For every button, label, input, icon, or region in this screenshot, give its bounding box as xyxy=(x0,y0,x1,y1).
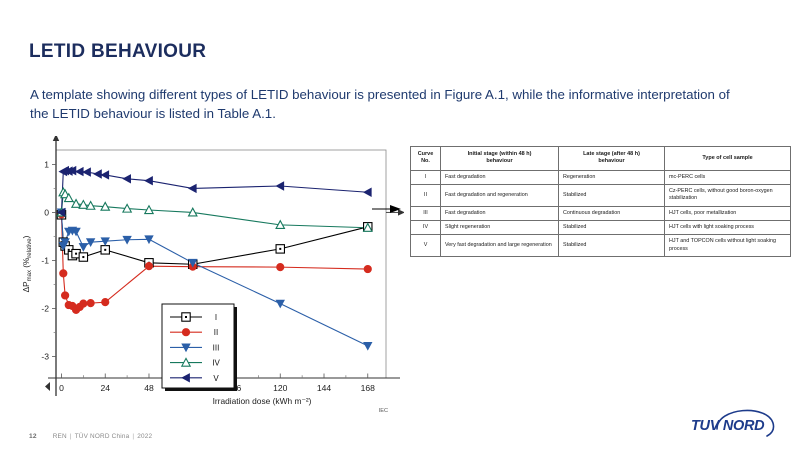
flow-arrow-icon xyxy=(372,203,402,215)
data-marker xyxy=(94,170,102,178)
x-tick-label: 0 xyxy=(59,383,64,393)
cell-type-cell: HJT cells with light soaking process xyxy=(665,221,791,235)
data-marker-dot xyxy=(185,316,187,318)
column-header-initial-stage: Initial stage (within 48 h) behaviour xyxy=(441,147,559,171)
initial-stage-cell: Fast degradation xyxy=(441,170,559,184)
legend-label-V: V xyxy=(213,374,219,383)
legend-label-II: II xyxy=(214,328,218,337)
table-row: IIFast degradation and regenerationStabi… xyxy=(411,185,791,207)
cell-type-cell: HJT cells, poor metallization xyxy=(665,206,791,220)
data-marker xyxy=(59,270,67,278)
page-title: LETID BEHAVIOUR xyxy=(29,41,206,63)
legend-label-III: III xyxy=(213,343,220,352)
curve-no-cell: II xyxy=(411,185,441,207)
initial-stage-cell: Fast degradation and regeneration xyxy=(441,185,559,207)
data-marker-dot xyxy=(75,253,77,255)
curve-no-cell: I xyxy=(411,170,441,184)
late-stage-cell: Stabilized xyxy=(559,235,665,257)
data-marker xyxy=(101,171,109,179)
data-marker xyxy=(80,300,88,308)
chart-svg: 10-1-2-3024487296120144168Irradiation do… xyxy=(14,136,404,421)
y-tick-label: -2 xyxy=(41,303,49,313)
footer-separator-1: | xyxy=(70,433,72,440)
data-marker-dot xyxy=(279,248,281,250)
footer: 12 REN | TÜV NORD China | 2022 xyxy=(29,433,152,440)
table-body: IFast degradationRegenerationmc-PERC cel… xyxy=(411,170,791,256)
table-row: IVSlight regenerationStabilizedHJT cells… xyxy=(411,221,791,235)
data-marker-dot xyxy=(104,249,106,251)
logo-wordmark: TUV NORD xyxy=(691,418,765,434)
column-header-cell-type: Type of cell sample xyxy=(665,147,791,171)
data-marker xyxy=(364,188,372,196)
legend-label-IV: IV xyxy=(212,359,220,368)
data-marker xyxy=(76,167,84,175)
x-tick-label: 144 xyxy=(317,383,332,393)
initial-stage-cell: Very fast degradation and large regenera… xyxy=(441,235,559,257)
data-marker xyxy=(61,292,69,300)
data-marker xyxy=(276,300,284,308)
x-tick-label: 168 xyxy=(361,383,376,393)
footer-separator-2: | xyxy=(132,433,134,440)
data-marker xyxy=(145,262,153,270)
data-marker xyxy=(83,168,91,176)
slide-canvas: LETID BEHAVIOUR A template showing diffe… xyxy=(0,0,800,453)
late-stage-cell: Stabilized xyxy=(559,221,665,235)
data-marker xyxy=(276,263,284,271)
footer-department: REN xyxy=(53,433,67,440)
cell-type-cell: mc-PERC cells xyxy=(665,170,791,184)
late-stage-cell: Stabilized xyxy=(559,185,665,207)
x-tick-label: 24 xyxy=(100,383,110,393)
x-axis-title: Irradiation dose (kWh m⁻²) xyxy=(213,396,312,406)
x-tick-label: 120 xyxy=(273,383,288,393)
data-marker xyxy=(189,184,197,192)
data-marker xyxy=(364,265,372,273)
legend-label-I: I xyxy=(215,313,217,322)
data-marker xyxy=(123,175,131,183)
y-tick-label: -3 xyxy=(41,351,49,361)
y-axis-arrowhead xyxy=(53,136,59,141)
iec-source-mark: IEC xyxy=(379,408,388,414)
late-stage-cell: Continuous degradation xyxy=(559,206,665,220)
curve-no-cell: V xyxy=(411,235,441,257)
data-marker xyxy=(87,299,95,307)
footer-company: TÜV NORD China xyxy=(75,433,130,440)
x-axis-arrowhead xyxy=(45,382,50,391)
table-header-row: Curve No. Initial stage (within 48 h) be… xyxy=(411,147,791,171)
late-stage-cell: Regeneration xyxy=(559,170,665,184)
data-marker-dot xyxy=(68,249,70,251)
page-number: 12 xyxy=(29,433,37,440)
table-row: VVery fast degradation and large regener… xyxy=(411,235,791,257)
data-marker xyxy=(145,177,153,185)
column-header-late-stage: Late stage (after 48 h) behaviour xyxy=(559,147,665,171)
curve-no-cell: III xyxy=(411,206,441,220)
y-tick-label: 1 xyxy=(44,159,49,169)
data-marker xyxy=(364,342,372,350)
intro-paragraph: A template showing different types of LE… xyxy=(30,85,730,123)
table-row: IIIFast degradationContinuous degradatio… xyxy=(411,206,791,220)
data-marker xyxy=(276,182,284,190)
initial-stage-cell: Slight regeneration xyxy=(441,221,559,235)
tuv-nord-logo: TUV NORD xyxy=(683,403,787,439)
letid-behaviour-chart: 10-1-2-3024487296120144168Irradiation do… xyxy=(14,136,404,421)
data-marker-dot xyxy=(82,256,84,258)
series-line-II xyxy=(61,214,367,310)
initial-stage-cell: Fast degradation xyxy=(441,206,559,220)
data-marker xyxy=(182,328,190,336)
cell-type-cell: Cz-PERC cells, without good boron-oxygen… xyxy=(665,185,791,207)
y-tick-label: -1 xyxy=(41,255,49,265)
x-tick-label: 48 xyxy=(144,383,154,393)
y-axis-title: ΔPmax (%relative) xyxy=(22,235,33,292)
curve-no-cell: IV xyxy=(411,221,441,235)
table-row: IFast degradationRegenerationmc-PERC cel… xyxy=(411,170,791,184)
footer-year: 2022 xyxy=(137,433,152,440)
cell-type-cell: HJT and TOPCON cells without light soaki… xyxy=(665,235,791,257)
y-tick-label: 0 xyxy=(44,207,49,217)
interpretation-table: Curve No. Initial stage (within 48 h) be… xyxy=(410,146,791,257)
column-header-curve-no: Curve No. xyxy=(411,147,441,171)
data-marker xyxy=(101,298,109,306)
